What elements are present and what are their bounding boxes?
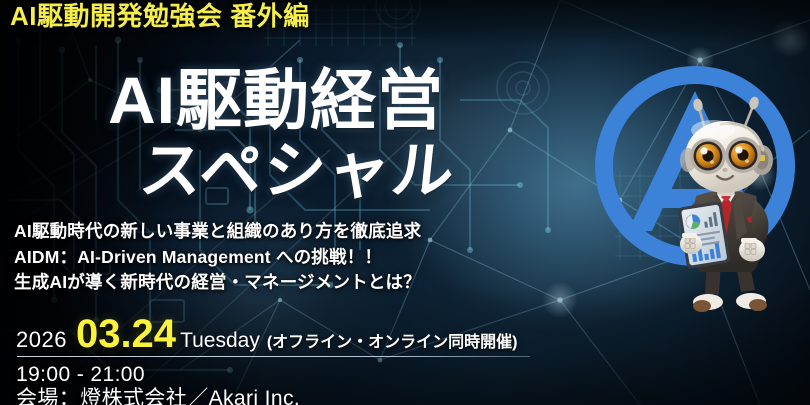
event-format-note: (オフライン・オンライン同時開催) (267, 328, 518, 352)
ai-robot-mascot (655, 92, 797, 322)
event-venue: 会場：燈株式会社／Akari Inc. (16, 386, 300, 405)
description-block: AI駆動時代の新しい事業と組織のあり方を徹底追求 AIDM：AI-Driven … (14, 219, 421, 296)
description-line-3: 生成AIが導く新時代の経営・マネージメントとは？ (14, 270, 421, 296)
event-poster: AI駆動開発勉強会 番外編 AI駆動経営 スペシャル AI駆動時代の新しい事業と… (0, 0, 810, 405)
event-month-day: 03.24 (76, 314, 176, 354)
event-date-row: 2026 03.24 Tuesday (オフライン・オンライン同時開催) (16, 314, 518, 354)
event-year: 2026 (16, 327, 67, 353)
description-line-2: AIDM：AI-Driven Management への挑戦！！ (14, 245, 421, 271)
page-title: AI駆動経営 (108, 64, 444, 136)
page-subtitle: スペシャル (136, 136, 459, 208)
description-line-1: AI駆動時代の新しい事業と組織のあり方を徹底追求 (14, 219, 421, 245)
event-time: 19:00 - 21:00 (16, 362, 145, 388)
event-weekday: Tuesday (180, 329, 260, 353)
section-divider (17, 356, 530, 357)
event-series-banner: AI駆動開発勉強会 番外編 (10, 0, 310, 32)
